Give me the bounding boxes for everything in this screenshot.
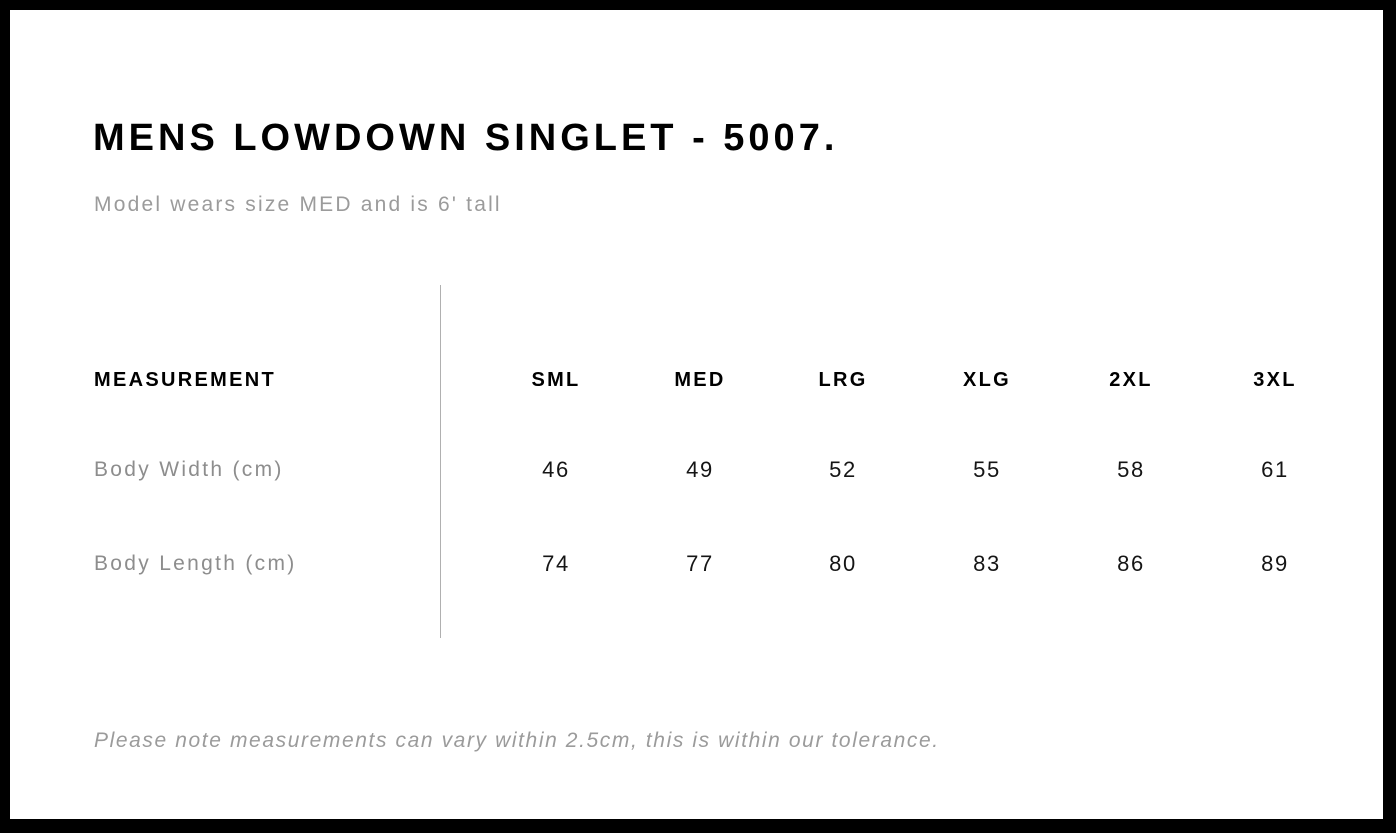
cell-body-length-sml: 74 bbox=[501, 547, 611, 581]
cell-body-length-xlg: 83 bbox=[932, 547, 1042, 581]
cell-body-width-med: 49 bbox=[645, 453, 755, 487]
column-header-xlg: XLG bbox=[932, 363, 1042, 397]
cell-body-length-2xl: 86 bbox=[1076, 547, 1186, 581]
page-frame: MENS LOWDOWN SINGLET - 5007. Model wears… bbox=[0, 0, 1396, 833]
cell-body-width-lrg: 52 bbox=[788, 453, 898, 487]
cell-body-width-2xl: 58 bbox=[1076, 453, 1186, 487]
row-label-body-width: Body Width (cm) bbox=[94, 453, 284, 487]
column-header-3xl: 3XL bbox=[1220, 363, 1330, 397]
cell-body-width-3xl: 61 bbox=[1220, 453, 1330, 487]
cell-body-width-sml: 46 bbox=[501, 453, 611, 487]
row-label-body-length: Body Length (cm) bbox=[94, 547, 297, 581]
cell-body-width-xlg: 55 bbox=[932, 453, 1042, 487]
column-header-med: MED bbox=[645, 363, 755, 397]
column-header-measurement: MEASUREMENT bbox=[94, 363, 276, 397]
size-chart-table: MEASUREMENT SML MED LRG XLG 2XL 3XL Body… bbox=[10, 10, 1383, 819]
table-row: Body Length (cm) 74 77 80 83 86 89 bbox=[10, 547, 1383, 581]
cell-body-length-med: 77 bbox=[645, 547, 755, 581]
cell-body-length-3xl: 89 bbox=[1220, 547, 1330, 581]
cell-body-length-lrg: 80 bbox=[788, 547, 898, 581]
size-chart-card: MENS LOWDOWN SINGLET - 5007. Model wears… bbox=[10, 10, 1383, 819]
column-header-2xl: 2XL bbox=[1076, 363, 1186, 397]
tolerance-note: Please note measurements can vary within… bbox=[94, 726, 940, 756]
column-header-lrg: LRG bbox=[788, 363, 898, 397]
table-header-row: MEASUREMENT SML MED LRG XLG 2XL 3XL bbox=[10, 363, 1383, 397]
column-header-sml: SML bbox=[501, 363, 611, 397]
table-row: Body Width (cm) 46 49 52 55 58 61 bbox=[10, 453, 1383, 487]
